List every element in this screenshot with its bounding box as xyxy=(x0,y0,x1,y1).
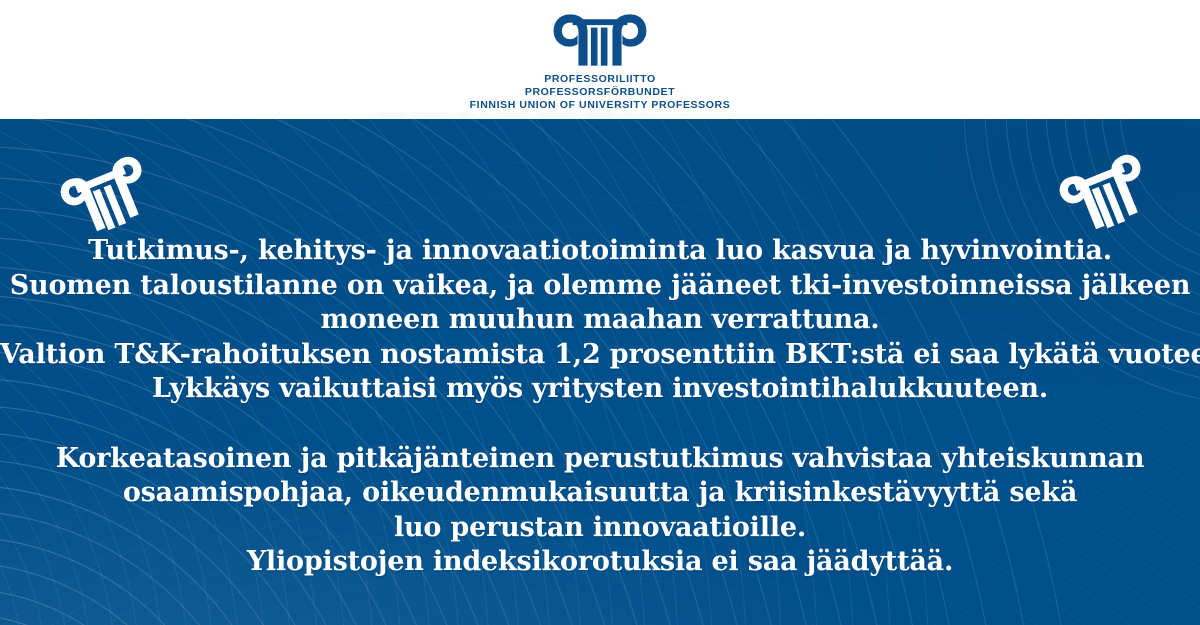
brand-name-en: FINNISH UNION OF UNIVERSITY PROFESSORS xyxy=(450,99,750,112)
brand-name-sv: PROFESSORSFÖRBUNDET xyxy=(450,86,750,99)
brand-logo: PROFESSORILIITTO PROFESSORSFÖRBUNDET FIN… xyxy=(450,11,750,111)
message-line: moneen muuhun maahan verrattuna. xyxy=(0,303,1200,338)
message-block: Tutkimus-, kehitys- ja innovaatiotoimint… xyxy=(0,119,1200,580)
message-line: Suomen taloustilanne on vaikea, ja olemm… xyxy=(0,269,1200,304)
brand-name-fi: PROFESSORILIITTO xyxy=(450,73,750,86)
ionic-column-logo-icon xyxy=(548,11,652,69)
message-line: Lykkäys vaikuttaisi myös yritysten inves… xyxy=(0,372,1200,407)
header-band: PROFESSORILIITTO PROFESSORSFÖRBUNDET FIN… xyxy=(0,0,1200,119)
blue-content-panel: Tutkimus-, kehitys- ja innovaatiotoimint… xyxy=(0,119,1200,625)
message-line: Tutkimus-, kehitys- ja innovaatiotoimint… xyxy=(0,234,1200,269)
message-line: Yliopistojen indeksikorotuksia ei saa jä… xyxy=(0,545,1200,580)
paragraph-one: Tutkimus-, kehitys- ja innovaatiotoimint… xyxy=(0,119,1200,407)
message-line: osaamispohjaa, oikeudenmukaisuutta ja kr… xyxy=(0,476,1200,511)
message-line: luo perustan innovaatioille. xyxy=(0,511,1200,546)
brand-wordmark: PROFESSORILIITTO PROFESSORSFÖRBUNDET FIN… xyxy=(450,73,750,111)
message-line: Korkeatasoinen ja pitkäjänteinen perustu… xyxy=(0,442,1200,477)
message-line: Valtion T&K-rahoituksen nostamista 1,2 p… xyxy=(0,338,1200,373)
poster-canvas: Tutkimus-, kehitys- ja innovaatiotoimint… xyxy=(0,0,1200,625)
paragraph-two: Korkeatasoinen ja pitkäjänteinen perustu… xyxy=(0,407,1200,580)
